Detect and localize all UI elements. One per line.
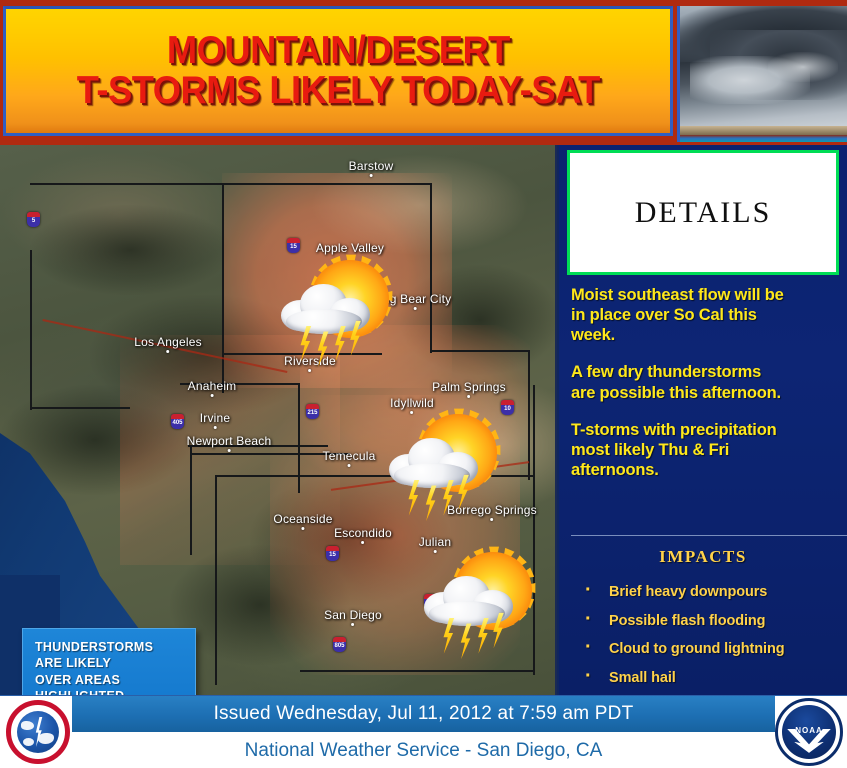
highway-shield-icon: 215 xyxy=(306,404,319,419)
highway-number: 5 xyxy=(32,218,35,224)
highway-shield-icon: 405 xyxy=(171,414,184,429)
noaa-seagull-lower xyxy=(794,742,824,758)
details-title: DETAILS xyxy=(635,196,772,230)
highway-shield-icon: 5 xyxy=(27,212,40,227)
city-label: Escondido xyxy=(334,526,392,540)
details-paragraph: Moist southeast flow will be in place ov… xyxy=(571,285,847,345)
city-label: Idyllwild xyxy=(390,396,434,410)
noaa-seal-logo: NOAA xyxy=(775,698,843,766)
city-label: Apple Valley xyxy=(316,241,384,255)
city-dot xyxy=(228,449,231,452)
legend-box: THUNDERSTORMSARE LIKELYOVER AREASHIGHLIG… xyxy=(22,628,196,695)
highway-number: 405 xyxy=(172,420,182,426)
county-boundary xyxy=(190,445,192,555)
photo-color-strip xyxy=(680,135,847,142)
highway-shield-icon: 15 xyxy=(287,238,300,253)
county-boundary xyxy=(298,383,300,493)
weather-graphicast: MOUNTAIN/DESERT T-STORMS LIKELY TODAY-SA… xyxy=(0,0,847,768)
city-label: Temecula xyxy=(323,449,376,463)
headline-line-1: MOUNTAIN/DESERT xyxy=(167,31,510,71)
headline-box: MOUNTAIN/DESERT T-STORMS LIKELY TODAY-SA… xyxy=(3,6,673,136)
cloud-puff xyxy=(394,463,470,488)
seal-globe xyxy=(17,711,59,753)
details-paragraph: A few dry thunderstorms are possible thi… xyxy=(571,362,847,402)
city-label: Newport Beach xyxy=(187,434,272,448)
impacts-list: Brief heavy downpoursPossible flash floo… xyxy=(583,585,847,695)
county-boundary xyxy=(30,250,32,410)
forecast-map[interactable]: BarstowApple ValleyBig Bear CityLos Ange… xyxy=(0,145,557,695)
city-label: Anaheim xyxy=(188,379,237,393)
city-label: Irvine xyxy=(200,411,231,425)
storm-photo xyxy=(677,6,847,142)
header-banner: MOUNTAIN/DESERT T-STORMS LIKELY TODAY-SA… xyxy=(0,0,847,145)
terrain-shade xyxy=(30,205,230,295)
county-boundary xyxy=(215,475,217,685)
impact-item: Brief heavy downpours xyxy=(583,585,847,600)
city-dot xyxy=(210,394,213,397)
details-paragraph: T-storms with precipitation most likely … xyxy=(571,420,847,480)
seal-landmass xyxy=(21,721,34,730)
storm-icon-central xyxy=(389,412,497,520)
city-dot xyxy=(213,426,216,429)
section-divider xyxy=(571,535,847,536)
details-paragraphs: Moist southeast flow will be in place ov… xyxy=(571,285,847,497)
legend-line: HIGHLIGHTED xyxy=(35,688,187,695)
seal-landmass xyxy=(23,738,34,746)
county-boundary xyxy=(222,183,224,393)
photo-bright-cloud-2 xyxy=(768,52,838,82)
issued-text: Issued Wednesday, Jul 11, 2012 at 7:59 a… xyxy=(214,703,634,725)
cloud-puff xyxy=(429,601,505,626)
highway-number: 805 xyxy=(334,643,344,649)
highway-shield-icon: 15 xyxy=(326,546,339,561)
headline-line-2: T-STORMS LIKELY TODAY-SAT xyxy=(76,71,599,111)
highway-shield-icon: 10 xyxy=(501,400,514,415)
county-boundary xyxy=(430,350,530,352)
impact-item: Possible flash flooding xyxy=(583,614,847,629)
county-boundary xyxy=(30,407,130,409)
county-boundary xyxy=(30,183,430,185)
county-boundary xyxy=(533,385,535,675)
seal-ring xyxy=(6,700,70,764)
seal-landmass xyxy=(38,733,54,744)
office-text: National Weather Service - San Diego, CA xyxy=(72,732,775,768)
impact-item: Small hail xyxy=(583,671,847,686)
county-boundary xyxy=(300,670,535,672)
impact-item: Cloud to ground lightning xyxy=(583,642,847,657)
city-label: San Diego xyxy=(324,608,382,622)
highway-number: 215 xyxy=(307,410,317,416)
highway-shield-icon: 805 xyxy=(333,637,346,652)
storm-icon-north xyxy=(281,258,389,366)
city-label: Los Angeles xyxy=(134,335,202,349)
impacts-heading: IMPACTS xyxy=(559,547,847,567)
legend-line: ARE LIKELY xyxy=(35,655,187,671)
storm-icon-south xyxy=(424,550,532,658)
city-label: Julian xyxy=(419,535,452,549)
city-dot xyxy=(413,307,416,310)
issued-band: Issued Wednesday, Jul 11, 2012 at 7:59 a… xyxy=(72,696,775,732)
legend-line: THUNDERSTORMS xyxy=(35,639,187,655)
county-boundary xyxy=(430,183,432,353)
noaa-inner-disc: NOAA xyxy=(782,705,836,759)
footer-bar: Issued Wednesday, Jul 11, 2012 at 7:59 a… xyxy=(0,695,847,768)
details-title-box: DETAILS xyxy=(567,150,839,275)
highway-number: 10 xyxy=(504,406,511,412)
nws-seal-logo xyxy=(4,698,72,766)
city-dot xyxy=(370,174,373,177)
city-label: Oceanside xyxy=(273,512,332,526)
noaa-wordmark: NOAA xyxy=(782,726,836,735)
city-dot xyxy=(348,464,351,467)
details-panel: DETAILS Moist southeast flow will be in … xyxy=(559,145,847,695)
cloud-puff xyxy=(286,309,362,334)
highway-number: 15 xyxy=(329,552,336,558)
city-label: Barstow xyxy=(349,159,394,173)
legend-line: OVER AREAS xyxy=(35,672,187,688)
city-label: Palm Springs xyxy=(432,380,506,394)
legend-text: THUNDERSTORMSARE LIKELYOVER AREASHIGHLIG… xyxy=(35,639,187,695)
highway-number: 15 xyxy=(290,244,297,250)
